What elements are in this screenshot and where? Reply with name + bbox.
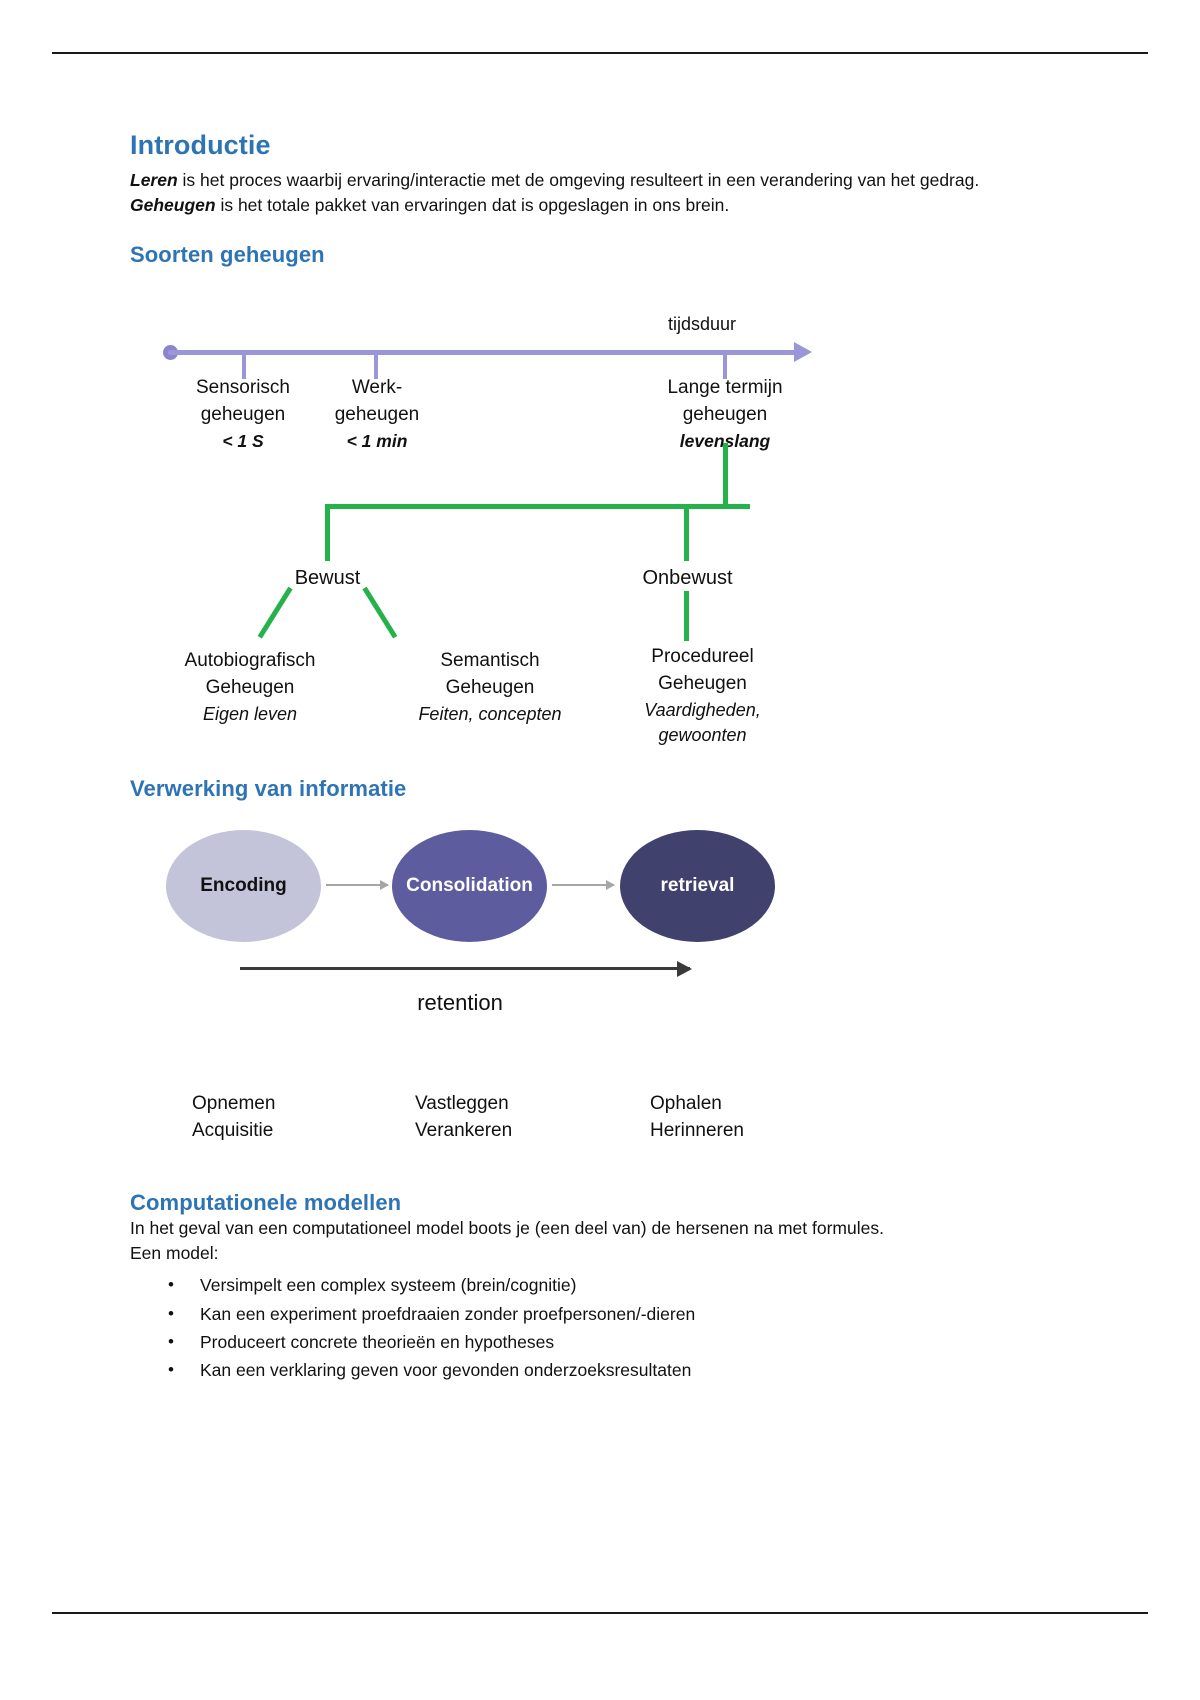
flow-stage-encoding: Encoding — [166, 830, 321, 942]
intro-paragraph-geheugen: Geheugen is het totale pakket van ervari… — [130, 193, 1070, 218]
subtext-consolidation: Vastleggen Verankeren — [415, 1090, 512, 1145]
section-heading-verwerking: Verwerking van informatie — [130, 776, 1070, 802]
timeline-item-2-duration: < 1 min — [298, 429, 456, 454]
tree-connector-top — [723, 443, 728, 509]
intro-paragraph-leren: Leren is het proces waarbij ervaring/int… — [130, 168, 1070, 193]
bullet-icon: • — [168, 1356, 174, 1384]
list-item: •Kan een experiment proefdraaien zonder … — [130, 1300, 1070, 1328]
timeline-item-lange-termijn: Lange termijn geheugen levenslang — [635, 375, 815, 454]
list-item: •Produceert concrete theorieën en hypoth… — [130, 1328, 1070, 1356]
processing-subtext-row: Opnemen Acquisitie Vastleggen Verankeren… — [130, 1090, 1070, 1160]
tree-leaf-1-line2: Geheugen — [206, 677, 295, 698]
subtext-3-line1: Ophalen — [650, 1093, 722, 1114]
tree-branch-procedureel — [684, 591, 689, 641]
tree-leaf-2-line2: Geheugen — [446, 677, 535, 698]
bullet-icon: • — [168, 1271, 174, 1299]
term-leren: Leren — [130, 170, 178, 190]
bullet-icon: • — [168, 1300, 174, 1328]
subtext-1-line2: Acquisitie — [192, 1120, 273, 1141]
footer-rule — [52, 1612, 1148, 1614]
subtext-3-line2: Herinneren — [650, 1120, 744, 1141]
subtext-2-line2: Verankeren — [415, 1120, 512, 1141]
flow-stage-consolidation: Consolidation — [392, 830, 547, 942]
bullet-text-4: Kan een verklaring geven voor gevonden o… — [200, 1360, 691, 1380]
tree-leaf-semantisch: Semantisch Geheugen Feiten, concepten — [365, 648, 615, 727]
tree-leaf-1-italic: Eigen leven — [140, 702, 360, 728]
tree-branch-autobiografisch — [258, 586, 293, 638]
tree-node-bewust: Bewust — [250, 564, 405, 592]
flow-stage-retrieval: retrieval — [620, 830, 775, 942]
subtext-encoding: Opnemen Acquisitie — [192, 1090, 275, 1145]
computationele-paragraph-1: In het geval van een computationeel mode… — [130, 1216, 1070, 1241]
document-page: Introductie Leren is het proces waarbij … — [0, 0, 1200, 1700]
bullet-text-1: Versimpelt een complex systeem (brein/co… — [200, 1275, 576, 1295]
timeline-item-2-line1: Werk- — [352, 377, 402, 398]
tree-leaf-3-italic: Vaardigheden, — [610, 698, 795, 724]
subtext-retrieval: Ophalen Herinneren — [650, 1090, 744, 1145]
information-processing-diagram: Encoding Consolidation retrieval retenti… — [130, 830, 1070, 1080]
timeline-item-2-line2: geheugen — [335, 404, 420, 425]
timeline-item-3-line2: geheugen — [683, 404, 768, 425]
retention-arrow-icon — [240, 967, 690, 970]
timeline-axis-label: tijdsduur — [668, 314, 736, 335]
subtext-2-line1: Vastleggen — [415, 1093, 509, 1114]
tree-leaf-autobiografisch: Autobiografisch Geheugen Eigen leven — [140, 648, 360, 727]
timeline-item-werkgeheugen: Werk- geheugen < 1 min — [298, 375, 456, 454]
flow-arrow-2-icon — [552, 884, 614, 886]
document-content: Introductie Leren is het proces waarbij … — [130, 130, 1070, 1385]
tree-connector-onbewust — [684, 504, 689, 561]
bullet-icon: • — [168, 1328, 174, 1356]
list-item: •Versimpelt een complex systeem (brein/c… — [130, 1271, 1070, 1299]
flow-arrow-1-icon — [326, 884, 388, 886]
section-heading-soorten-geheugen: Soorten geheugen — [130, 242, 1070, 268]
term-geheugen: Geheugen — [130, 195, 216, 215]
header-rule — [52, 52, 1148, 54]
section-heading-computationele-modellen: Computationele modellen — [130, 1190, 1070, 1216]
tree-leaf-procedureel: Procedureel Geheugen Vaardigheden, gewoo… — [610, 644, 795, 749]
bullet-text-2: Kan een experiment proefdraaien zonder p… — [200, 1304, 695, 1324]
tree-node-onbewust: Onbewust — [610, 564, 765, 592]
computationele-paragraph-2: Een model: — [130, 1241, 1070, 1266]
retention-label: retention — [130, 990, 790, 1016]
timeline-axis-line — [168, 350, 798, 355]
section-heading-introductie: Introductie — [130, 130, 1070, 161]
list-item: •Kan een verklaring geven voor gevonden … — [130, 1356, 1070, 1384]
tree-connector-bewust — [325, 504, 330, 561]
subtext-1-line1: Opnemen — [192, 1093, 275, 1114]
definition-leren: is het proces waarbij ervaring/interacti… — [178, 170, 980, 190]
timeline-item-3-line1: Lange termijn — [667, 377, 782, 398]
memory-timeline-diagram: tijdsduur Sensorisch geheugen < 1 S Werk… — [130, 312, 1070, 482]
timeline-item-1-line2: geheugen — [201, 404, 286, 425]
tree-leaf-3-line1: Procedureel — [651, 646, 753, 667]
timeline-arrowhead-icon — [794, 342, 812, 362]
tree-leaf-1-line1: Autobiografisch — [185, 650, 316, 671]
tree-leaf-2-italic: Feiten, concepten — [365, 702, 615, 728]
tree-leaf-3-line2: Geheugen — [658, 673, 747, 694]
tree-branch-semantisch — [362, 586, 397, 638]
tree-leaf-2-line1: Semantisch — [440, 650, 539, 671]
timeline-item-1-line1: Sensorisch — [196, 377, 290, 398]
memory-tree-diagram: Bewust Onbewust Autobiografisch Geheugen… — [130, 476, 1070, 776]
bullet-text-3: Produceert concrete theorieën en hypothe… — [200, 1332, 554, 1352]
tree-leaf-3-italic2: gewoonten — [610, 723, 795, 749]
definition-geheugen: is het totale pakket van ervaringen dat … — [216, 195, 730, 215]
computationele-bullet-list: •Versimpelt een complex systeem (brein/c… — [130, 1271, 1070, 1384]
